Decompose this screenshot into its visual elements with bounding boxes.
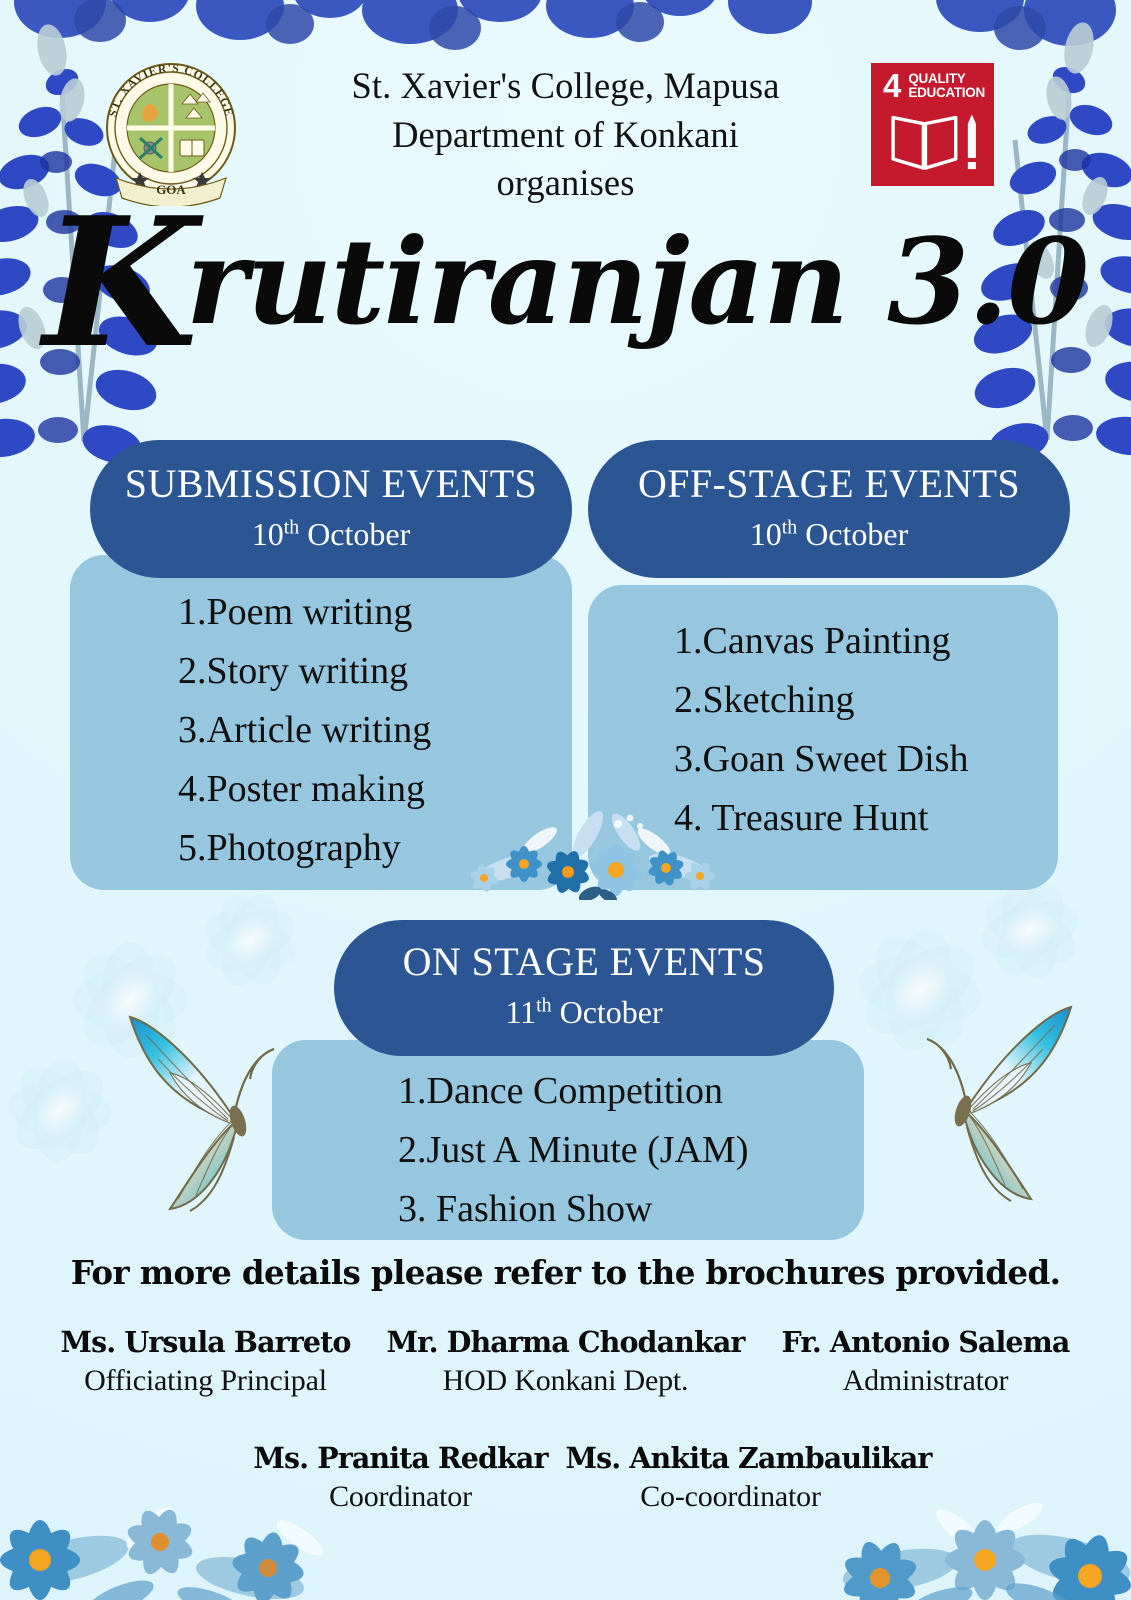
person-role: Co-coordinator <box>566 1478 896 1516</box>
signatories-row-1: Ms. Ursula Barreto Officiating Principal… <box>0 1326 1131 1399</box>
onstage-date-day: 11 <box>505 994 536 1030</box>
brochure-note: For more details please refer to the bro… <box>0 1253 1131 1292</box>
person-name: Fr. Antonio Salema <box>746 1326 1106 1360</box>
list-item-number: 4. <box>674 789 703 848</box>
person-card: Ms. Pranita Redkar Coordinator <box>236 1442 566 1515</box>
list-item: 3.Goan Sweet Dish <box>674 730 968 789</box>
list-item-number: 2. <box>398 1121 427 1180</box>
onstage-events-list: 1.Dance Competition 2.Just A Minute (JAM… <box>398 1062 748 1239</box>
person-name: Ms. Ursula Barreto <box>26 1326 386 1360</box>
college-name: St. Xavier's College, Mapusa <box>0 62 1131 111</box>
person-role: Administrator <box>746 1362 1106 1400</box>
submission-card-title: SUBMISSION EVENTS <box>90 464 572 504</box>
submission-events-list: 1.Poem writing 2.Story writing 3.Article… <box>178 583 431 877</box>
submission-card-header: SUBMISSION EVENTS 10th October <box>90 440 572 578</box>
submission-date-day: 10 <box>252 516 284 552</box>
off-stage-events-card: OFF-STAGE EVENTS 10th October 1.Canvas P… <box>588 440 1070 890</box>
list-item-label: Canvas Painting <box>703 620 951 662</box>
list-item: 4.Poster making <box>178 760 431 819</box>
list-item: 4. Treasure Hunt <box>674 789 968 848</box>
list-item-number: 2. <box>178 642 207 701</box>
submission-events-card: SUBMISSION EVENTS 10th October 1.Poem wr… <box>62 440 572 890</box>
list-item-label: Sketching <box>703 679 855 721</box>
department-name: Department of Konkani <box>0 111 1131 160</box>
event-title-rest: rutiranjan 3.0 <box>186 212 1088 351</box>
offstage-date-day: 10 <box>750 516 782 552</box>
list-item-label: Poem writing <box>207 591 413 633</box>
list-item-label: Story writing <box>207 650 409 692</box>
list-item-number: 1. <box>178 583 207 642</box>
event-title: Krutiranjan 3.0 <box>0 212 1131 351</box>
list-item: 1.Canvas Painting <box>674 612 968 671</box>
list-item: 2.Story writing <box>178 642 431 701</box>
submission-date-suffix: th <box>284 516 299 538</box>
list-item-label: Dance Competition <box>427 1070 724 1112</box>
list-item-number: 5. <box>178 819 207 878</box>
list-item-label: Poster making <box>207 768 425 810</box>
list-item: 1.Poem writing <box>178 583 431 642</box>
onstage-date-month: October <box>560 994 663 1030</box>
person-card: Mr. Dharma Chodankar HOD Konkani Dept. <box>386 1326 746 1399</box>
list-item: 3.Article writing <box>178 701 431 760</box>
onstage-card-header: ON STAGE EVENTS 11th October <box>334 920 834 1056</box>
list-item-label: Treasure Hunt <box>703 797 929 839</box>
list-item-number: 2. <box>674 671 703 730</box>
person-role: Officiating Principal <box>26 1362 386 1400</box>
list-item-number: 3. <box>674 730 703 789</box>
offstage-date-suffix: th <box>782 516 797 538</box>
offstage-date-month: October <box>805 516 908 552</box>
list-item: 5.Photography <box>178 819 431 878</box>
list-item-number: 3. <box>398 1180 427 1239</box>
offstage-events-list: 1.Canvas Painting 2.Sketching 3.Goan Swe… <box>674 612 968 848</box>
submission-date-month: October <box>307 516 410 552</box>
submission-card-date: 10th October <box>90 518 572 550</box>
list-item-number: 3. <box>178 701 207 760</box>
person-role: HOD Konkani Dept. <box>386 1362 746 1400</box>
onstage-date-suffix: th <box>536 994 551 1016</box>
event-title-initial: K <box>43 178 192 387</box>
offstage-card-title: OFF-STAGE EVENTS <box>588 464 1070 504</box>
event-poster: GOA ST. XAVIER'S COLLEGE 4 QUALITY EDUCA… <box>0 0 1131 1600</box>
onstage-card-title: ON STAGE EVENTS <box>334 942 834 982</box>
list-item-label: Just A Minute (JAM) <box>427 1129 749 1171</box>
list-item-label: Fashion Show <box>427 1188 653 1230</box>
list-item-label: Goan Sweet Dish <box>703 738 969 780</box>
offstage-card-header: OFF-STAGE EVENTS 10th October <box>588 440 1070 578</box>
on-stage-events-card: ON STAGE EVENTS 11th October 1.Dance Com… <box>272 920 872 1240</box>
list-item-number: 1. <box>674 612 703 671</box>
offstage-card-date: 10th October <box>588 518 1070 550</box>
list-item-label: Photography <box>207 827 401 869</box>
list-item: 2.Sketching <box>674 671 968 730</box>
list-item: 1.Dance Competition <box>398 1062 748 1121</box>
person-role: Coordinator <box>236 1478 566 1516</box>
person-name: Ms. Pranita Redkar <box>236 1442 566 1476</box>
list-item-label: Article writing <box>207 709 432 751</box>
list-item-number: 1. <box>398 1062 427 1121</box>
person-name: Mr. Dharma Chodankar <box>386 1326 746 1360</box>
person-card: Fr. Antonio Salema Administrator <box>746 1326 1106 1399</box>
signatories-row-2: Ms. Pranita Redkar Coordinator Ms. Ankit… <box>0 1442 1131 1515</box>
person-card: Ms. Ursula Barreto Officiating Principal <box>26 1326 386 1399</box>
list-item-number: 4. <box>178 760 207 819</box>
person-name: Ms. Ankita Zambaulikar <box>566 1442 896 1476</box>
list-item: 2.Just A Minute (JAM) <box>398 1121 748 1180</box>
list-item: 3. Fashion Show <box>398 1180 748 1239</box>
onstage-card-date: 11th October <box>334 996 834 1028</box>
person-card: Ms. Ankita Zambaulikar Co-coordinator <box>566 1442 896 1515</box>
